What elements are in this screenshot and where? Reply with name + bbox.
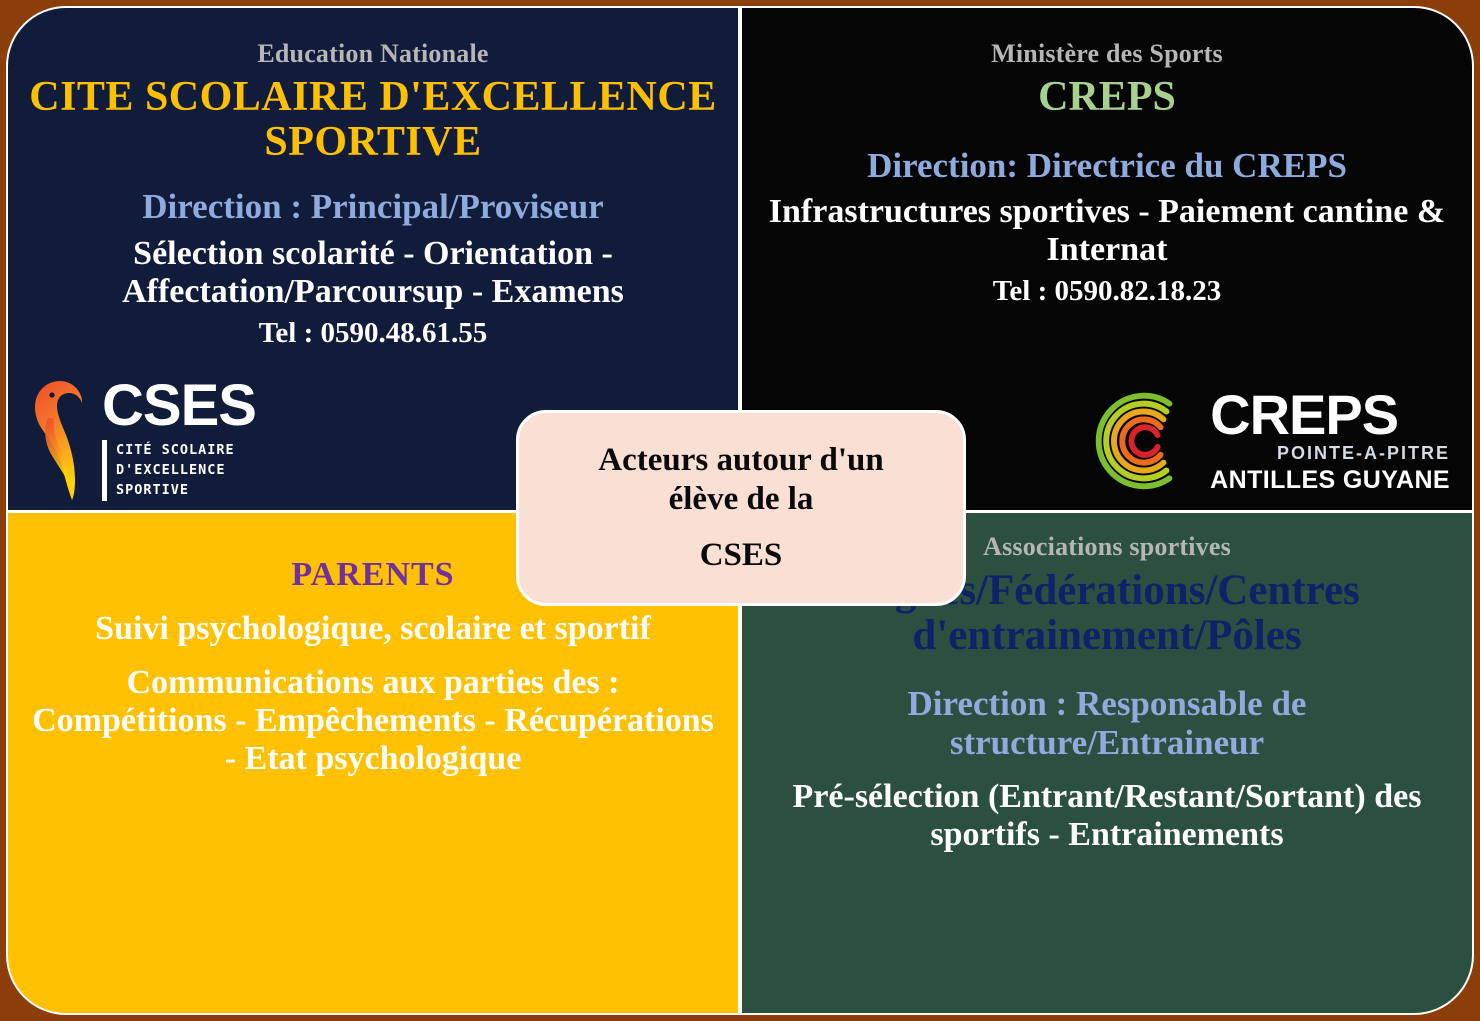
center-line-1: Acteurs autour d'un — [598, 441, 883, 481]
education-eyebrow: Education Nationale — [26, 40, 720, 69]
center-line-3: CSES — [700, 536, 783, 576]
cses-logo: CSES CITÉ SCOLAIRE D'EXCELLENCE SPORTIVE — [30, 378, 256, 502]
creps-headline: CREPS — [760, 75, 1454, 120]
cses-wordmark: CSES CITÉ SCOLAIRE D'EXCELLENCE SPORTIVE — [102, 379, 256, 500]
creps-region: ANTILLES GUYANE — [1210, 466, 1450, 495]
concentric-c-arcs-icon — [1076, 382, 1194, 500]
cses-logo-divider — [102, 440, 107, 501]
creps-eyebrow: Ministère des Sports — [760, 40, 1454, 69]
education-detail: Sélection scolarité - Orientation - Affe… — [26, 235, 720, 311]
associations-direction: Direction : Responsable de structure/Ent… — [760, 684, 1454, 762]
parents-detail-1: Suivi psychologique, scolaire et sportif — [26, 610, 720, 648]
creps-logo: CREPS POINTE-A-PITRE ANTILLES GUYANE — [1076, 382, 1450, 500]
cses-tagline-line3: SPORTIVE — [116, 480, 235, 500]
cses-tagline-line2: D'EXCELLENCE — [116, 460, 235, 480]
creps-location: POINTE-A-PITRE — [1210, 443, 1450, 465]
poster-root: Education Nationale CITE SCOLAIRE D'EXCE… — [0, 0, 1480, 1021]
cses-acronym: CSES — [102, 379, 256, 432]
cses-tagline-line1: CITÉ SCOLAIRE — [116, 440, 235, 460]
parrot-bird-icon — [30, 378, 92, 502]
cses-tagline: CITÉ SCOLAIRE D'EXCELLENCE SPORTIVE — [116, 440, 235, 501]
education-telephone: Tel : 0590.48.61.55 — [26, 317, 720, 350]
creps-wordmark: CREPS POINTE-A-PITRE ANTILLES GUYANE — [1210, 388, 1450, 495]
creps-acronym: CREPS — [1210, 388, 1450, 441]
center-line-2: élève de la — [669, 480, 814, 520]
education-direction: Direction : Principal/Proviseur — [26, 187, 720, 226]
associations-detail: Pré-sélection (Entrant/Restant/Sortant) … — [760, 778, 1454, 854]
center-card: Acteurs autour d'un élève de la CSES — [516, 410, 966, 606]
creps-detail: Infrastructures sportives - Paiement can… — [760, 193, 1454, 269]
poster-board: Education Nationale CITE SCOLAIRE D'EXCE… — [8, 8, 1472, 1013]
education-headline: CITE SCOLAIRE D'EXCELLENCE SPORTIVE — [26, 75, 720, 166]
parents-detail-2: Communications aux parties des : Compéti… — [26, 664, 720, 778]
creps-telephone: Tel : 0590.82.18.23 — [760, 275, 1454, 308]
creps-direction: Direction: Directrice du CREPS — [760, 146, 1454, 185]
